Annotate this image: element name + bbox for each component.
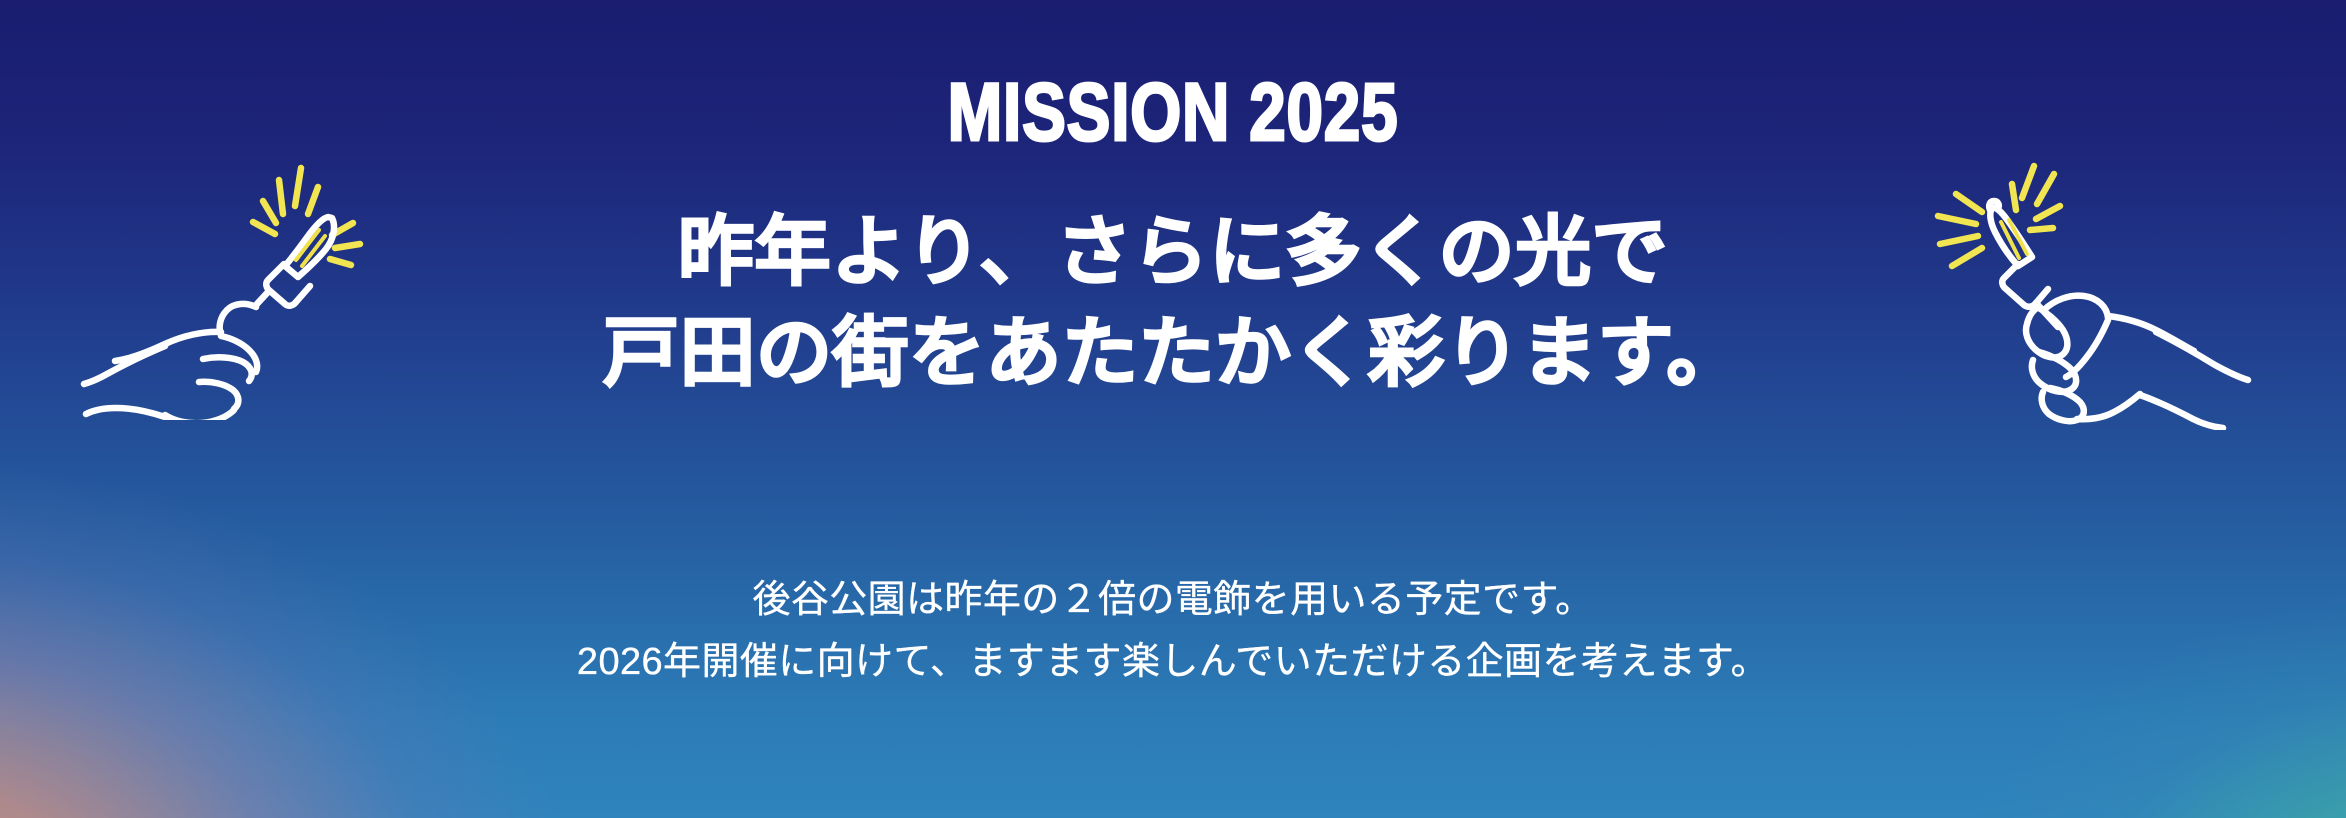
mission-2025-banner: MISSION 2025 昨年より、さらに多くの光で 戸田の街をあたたかく彩りま… <box>0 0 2346 818</box>
headline-line-2: 戸田の街をあたたかく彩ります。 <box>0 303 2346 404</box>
banner-content: MISSION 2025 昨年より、さらに多くの光で 戸田の街をあたたかく彩りま… <box>0 0 2346 818</box>
page-title: MISSION 2025 <box>235 72 2112 154</box>
headline-line-1: 昨年より、さらに多くの光で <box>0 202 2346 303</box>
headline-block: 昨年より、さらに多くの光で 戸田の街をあたたかく彩ります。 <box>0 202 2346 404</box>
subtext-block: 後谷公園は昨年の２倍の電飾を用いる予定です。 2026年開催に向けて、ますます楽… <box>0 570 2346 693</box>
subtext-line-1: 後谷公園は昨年の２倍の電飾を用いる予定です。 <box>0 570 2346 632</box>
subtext-line-2: 2026年開催に向けて、ますます楽しんでいただける企画を考えます。 <box>0 632 2346 694</box>
